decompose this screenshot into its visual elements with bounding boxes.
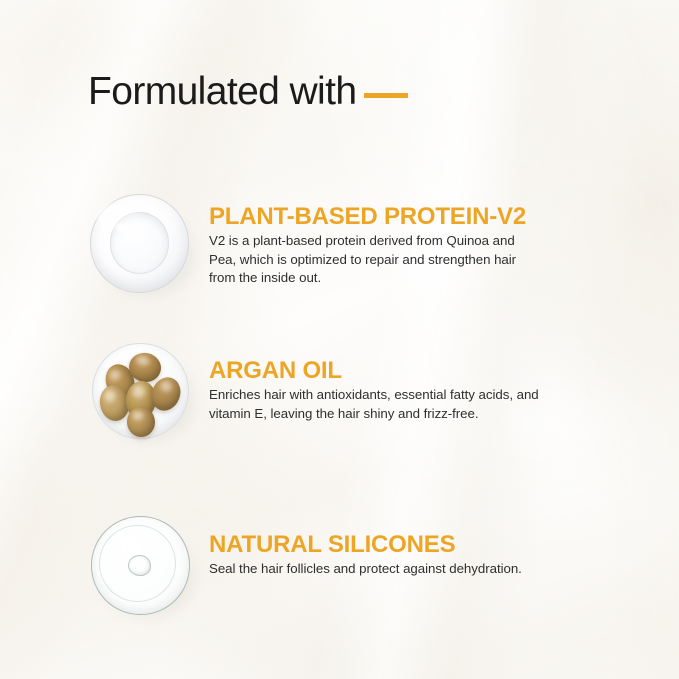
- nut-gloss: [108, 369, 122, 382]
- nut-gloss: [132, 385, 145, 398]
- ingredient-title: PLANT-BASED PROTEIN-V2: [209, 204, 581, 229]
- nut-gloss: [104, 390, 117, 403]
- silicone-droplet: [128, 555, 150, 576]
- formulated-with-infographic: Formulated with PLANT-BASED PROTEIN-V2 V…: [0, 0, 679, 679]
- dish-outer-bowl: [90, 194, 189, 293]
- ingredient-title: ARGAN OIL: [209, 358, 609, 383]
- nut-gloss: [159, 380, 173, 394]
- ingredient-title: NATURAL SILICONES: [209, 532, 629, 557]
- glass-dish-white-cream-image: [88, 190, 200, 302]
- droplet-specular-highlight: [133, 559, 140, 565]
- page-title-text: Formulated with: [88, 72, 356, 111]
- nut-gloss: [132, 411, 144, 421]
- nut-gloss: [137, 355, 152, 366]
- ingredient-description: V2 is a plant-based protein derived from…: [209, 232, 581, 286]
- ingredient-description: Enriches hair with antioxidants, essenti…: [209, 386, 609, 422]
- ingredient-copy: ARGAN OIL Enriches hair with antioxidant…: [209, 358, 609, 423]
- page-title: Formulated with: [88, 72, 408, 111]
- ingredient-description: Seal the hair follicles and protect agai…: [209, 560, 629, 578]
- title-accent-dash: [364, 93, 408, 98]
- ingredient-copy: NATURAL SILICONES Seal the hair follicle…: [209, 532, 629, 579]
- glass-dish-argan-nuts-image: [88, 336, 200, 448]
- ingredient-copy: PLANT-BASED PROTEIN-V2 V2 is a plant-bas…: [209, 204, 581, 287]
- glass-dish-clear-droplet-image: [88, 512, 200, 624]
